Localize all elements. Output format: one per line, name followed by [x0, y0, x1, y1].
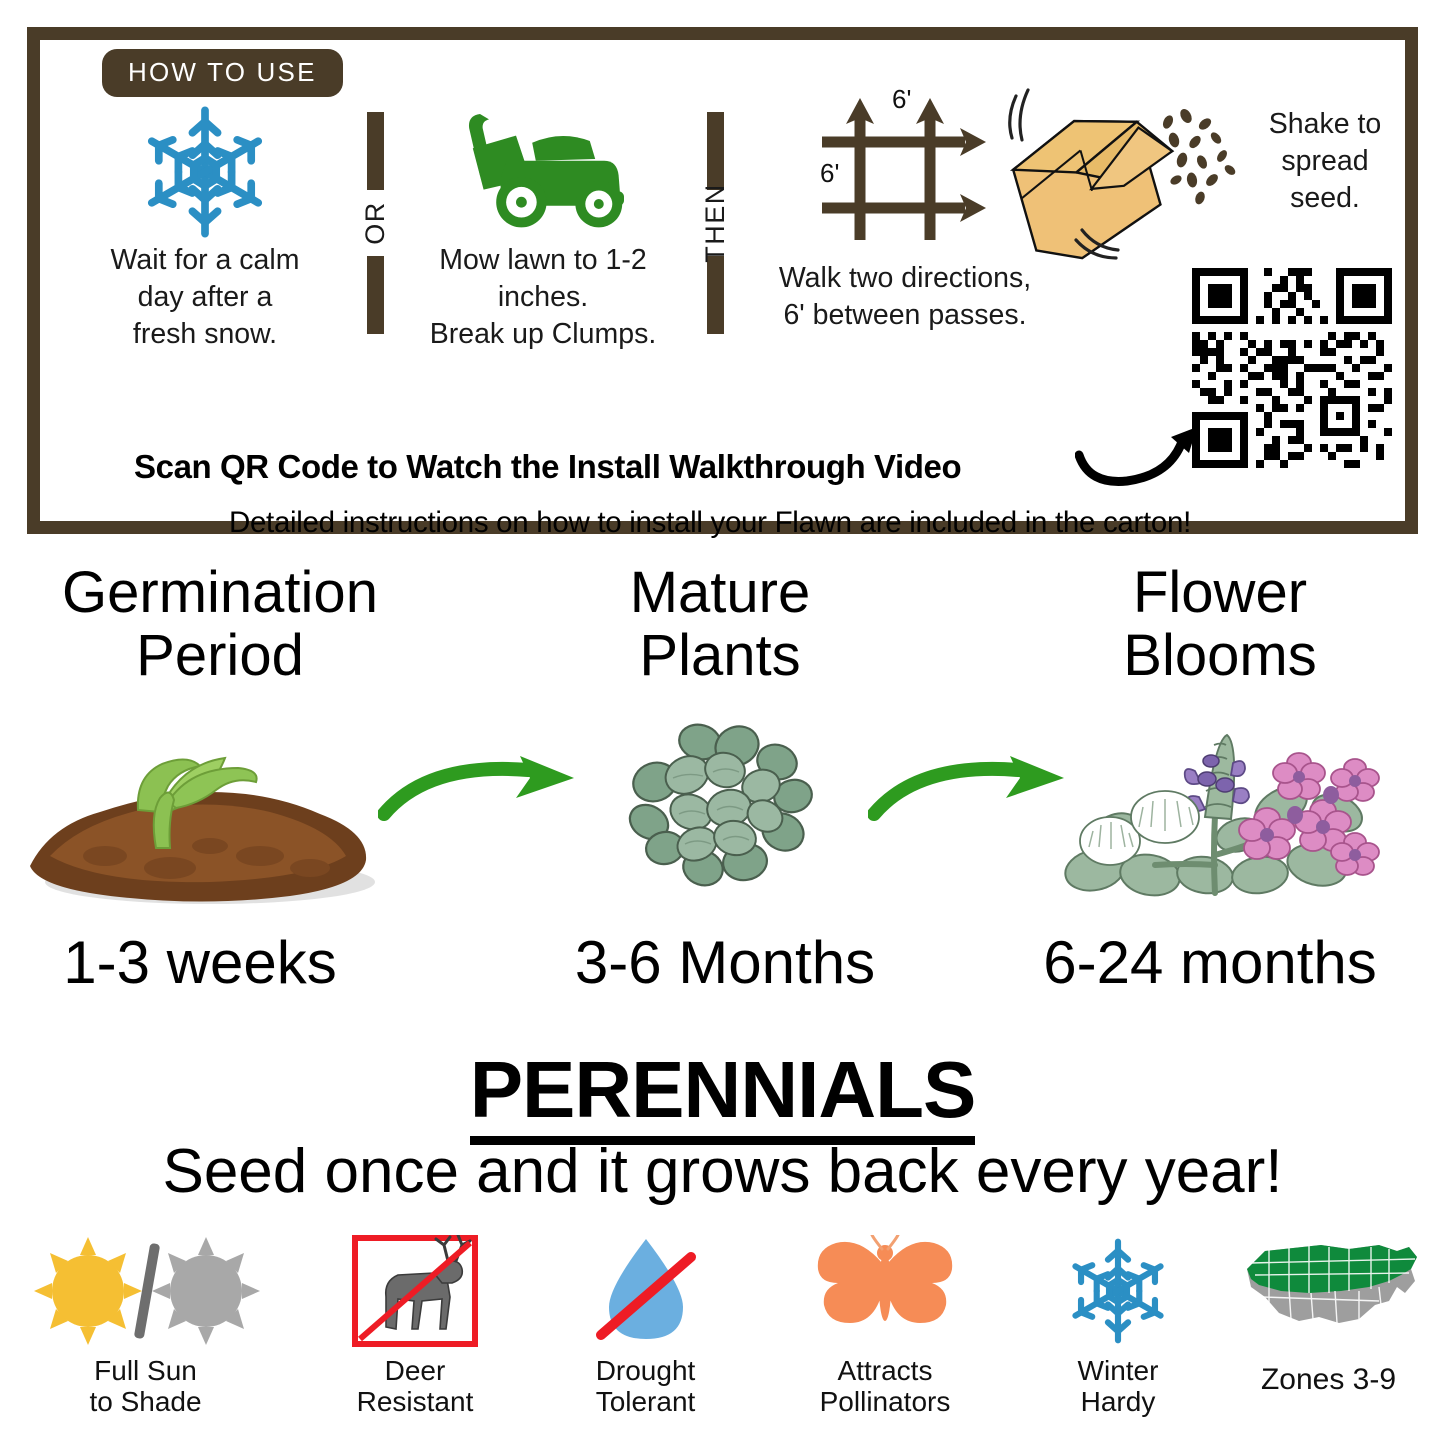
stage-time-mature: 3-6 Months	[530, 928, 920, 997]
qr-code[interactable]	[1192, 268, 1392, 468]
feature-winter-hardy: WinterHardy	[1018, 1232, 1218, 1418]
sun-shade-icon	[18, 1232, 273, 1347]
grid-label-vertical: 6'	[820, 158, 839, 188]
step-shake-seed: Shake tospreadseed.	[1000, 80, 1405, 260]
stage-title-germination: GerminationPeriod	[20, 562, 420, 687]
separator-or: OR	[345, 112, 405, 334]
infographic-page: HOW TO USE	[0, 0, 1445, 1445]
carton-instruction-note: Detailed instructions on how to install …	[120, 506, 1300, 540]
butterfly-icon	[760, 1232, 1010, 1347]
green-curved-arrow	[378, 756, 598, 826]
lawnmower-icon	[398, 102, 688, 242]
separator-then: THEN	[685, 112, 745, 334]
deer-no-icon	[300, 1232, 530, 1347]
step-walk-directions-text: Walk two directions,6' between passes.	[740, 260, 1070, 334]
feature-icon-row: Full Sunto Shade DeerResistant	[0, 1232, 1445, 1437]
feature-attracts-pollinators: AttractsPollinators	[760, 1232, 1010, 1418]
how-to-use-badge: HOW TO USE	[102, 49, 343, 97]
snowflake-icon	[1018, 1232, 1218, 1347]
feature-drought-tolerant: DroughtTolerant	[528, 1232, 763, 1418]
feature-caption: WinterHardy	[1018, 1355, 1218, 1418]
separator-then-label: THEN	[682, 193, 748, 253]
separator-bar-bottom	[707, 256, 724, 334]
separator-bar-top	[707, 112, 724, 190]
feature-caption: Full Sunto Shade	[18, 1355, 273, 1418]
feature-hardiness-zones: Zones 3-9	[1216, 1232, 1441, 1397]
feature-deer-resistant: DeerResistant	[300, 1232, 530, 1418]
seedling-in-soil	[10, 706, 390, 906]
usa-map-icon	[1216, 1232, 1441, 1347]
scan-qr-instruction: Scan QR Code to Watch the Install Walkth…	[134, 448, 1094, 486]
feature-caption: Zones 3-9	[1216, 1363, 1441, 1397]
clover-leaves	[625, 720, 825, 895]
step-mow-lawn: Mow lawn to 1-2inches.Break up Clumps.	[398, 102, 688, 353]
water-drop-no-icon	[528, 1232, 763, 1347]
flowering-clover	[1055, 715, 1385, 905]
feature-full-sun-to-shade: Full Sunto Shade	[18, 1232, 273, 1418]
curved-arrow-to-qr	[1075, 425, 1205, 495]
feature-caption: DroughtTolerant	[528, 1355, 763, 1418]
step-wait-for-snow-text: Wait for a calmday after afresh snow.	[60, 242, 350, 353]
stage-time-germination: 1-3 weeks	[0, 928, 400, 997]
how-to-use-panel: HOW TO USE	[27, 27, 1418, 534]
perennials-tagline: Seed once and it grows back every year!	[0, 1136, 1445, 1207]
grid-label-horizontal: 6'	[892, 84, 911, 114]
step-shake-seed-text: Shake tospreadseed.	[1245, 80, 1405, 217]
feature-caption: DeerResistant	[300, 1355, 530, 1418]
stage-title-mature: MaturePlants	[520, 562, 920, 687]
separator-bar-bottom	[367, 256, 384, 334]
step-wait-for-snow: Wait for a calmday after afresh snow.	[60, 102, 350, 353]
perennials-heading: PERENNIALS	[0, 1044, 1445, 1136]
snowflake-icon	[60, 102, 350, 242]
feature-caption: AttractsPollinators	[760, 1355, 1010, 1418]
step-mow-lawn-text: Mow lawn to 1-2inches.Break up Clumps.	[398, 242, 688, 353]
seed-carton-shake-icon	[1000, 80, 1245, 260]
separator-bar-top	[367, 112, 384, 190]
stage-time-bloom: 6-24 months	[980, 928, 1440, 997]
stage-title-bloom: FlowerBlooms	[1020, 562, 1420, 687]
